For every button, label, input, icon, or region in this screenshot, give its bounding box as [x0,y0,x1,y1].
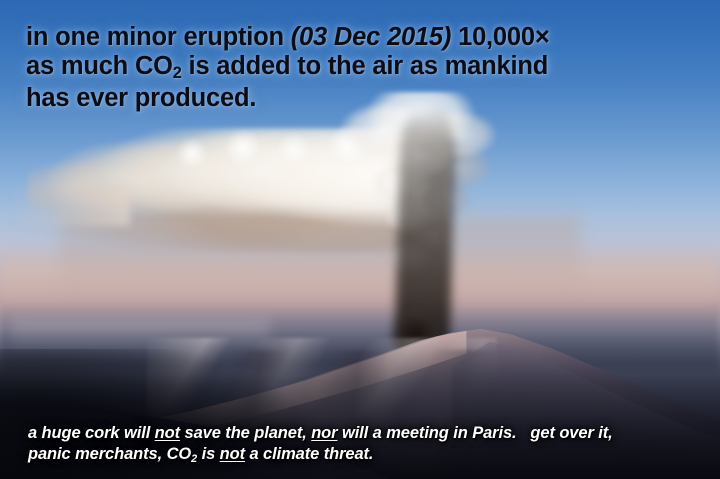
caption-line1-d: get over it, [530,424,612,442]
caption-emphasis-not: not [155,424,180,442]
caption-line1-c: will a meeting in Paris. [337,424,516,442]
headline-text: in one minor eruption (03 Dec 2015) 10,0… [26,23,698,113]
caption-line-1: a huge cork will not save the planet, no… [28,423,712,444]
caption-emphasis-not-2: not [220,445,245,463]
headline-line2-part2: is added to the air as mankind [182,52,548,80]
headline-line1-part1: in one minor eruption [26,23,291,51]
meme-image: in one minor eruption (03 Dec 2015) 10,0… [0,0,720,479]
caption-line2-b: is [197,445,220,463]
caption-co2-subscript: 2 [191,453,197,465]
headline-line-1: in one minor eruption (03 Dec 2015) 10,0… [26,23,698,52]
caption-line-2: panic merchants, CO2 is not a climate th… [28,444,712,467]
caption-line1-a: a huge cork will [28,424,155,442]
caption-line2-c: a climate threat. [245,445,373,463]
caption-text: a huge cork will not save the planet, no… [28,423,712,467]
caption-line2-a: panic merchants, CO [28,445,191,463]
anvil-cloud-tip [10,186,130,226]
headline-line2-part1: as much CO [26,52,173,80]
headline-line-2: as much CO2 is added to the air as manki… [26,52,698,84]
headline-line1-part2: 10,000× [451,23,549,51]
headline-co2-subscript: 2 [173,64,182,82]
caption-emphasis-nor: nor [311,424,337,442]
headline-line-3: has ever produced. [26,84,698,113]
caption-line1-b: save the planet, [180,424,311,442]
headline-date: (03 Dec 2015) [291,23,451,51]
